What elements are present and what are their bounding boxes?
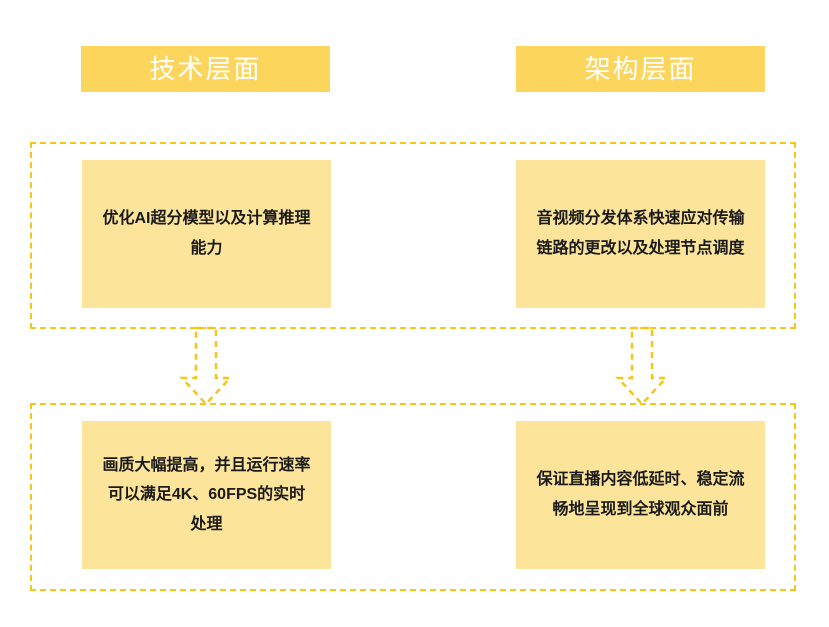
- card-technology-upper: 优化AI超分模型以及计算推理能力: [82, 160, 331, 308]
- column-header-architecture: 架构层面: [516, 46, 765, 92]
- card-technology-upper-text: 优化AI超分模型以及计算推理能力: [100, 204, 313, 263]
- down-arrow-icon-technology: [178, 326, 234, 406]
- card-architecture-lower-text: 保证直播内容低延时、稳定流畅地呈现到全球观众面前: [534, 465, 747, 524]
- card-technology-lower-text: 画质大幅提高，并且运行速率可以满足4K、60FPS的实时处理: [100, 451, 313, 540]
- column-header-technology: 技术层面: [81, 46, 330, 92]
- card-architecture-upper-text: 音视频分发体系快速应对传输链路的更改以及处理节点调度: [534, 204, 747, 263]
- card-technology-lower: 画质大幅提高，并且运行速率可以满足4K、60FPS的实时处理: [82, 421, 331, 569]
- column-header-architecture-label: 架构层面: [584, 56, 696, 82]
- diagram-canvas: 技术层面 架构层面 优化AI超分模型以及计算推理能力 音视频分发体系快速应对传输…: [0, 0, 829, 627]
- column-header-technology-label: 技术层面: [149, 56, 261, 82]
- card-architecture-upper: 音视频分发体系快速应对传输链路的更改以及处理节点调度: [516, 160, 765, 308]
- card-architecture-lower: 保证直播内容低延时、稳定流畅地呈现到全球观众面前: [516, 421, 765, 569]
- down-arrow-icon-architecture: [614, 326, 670, 406]
